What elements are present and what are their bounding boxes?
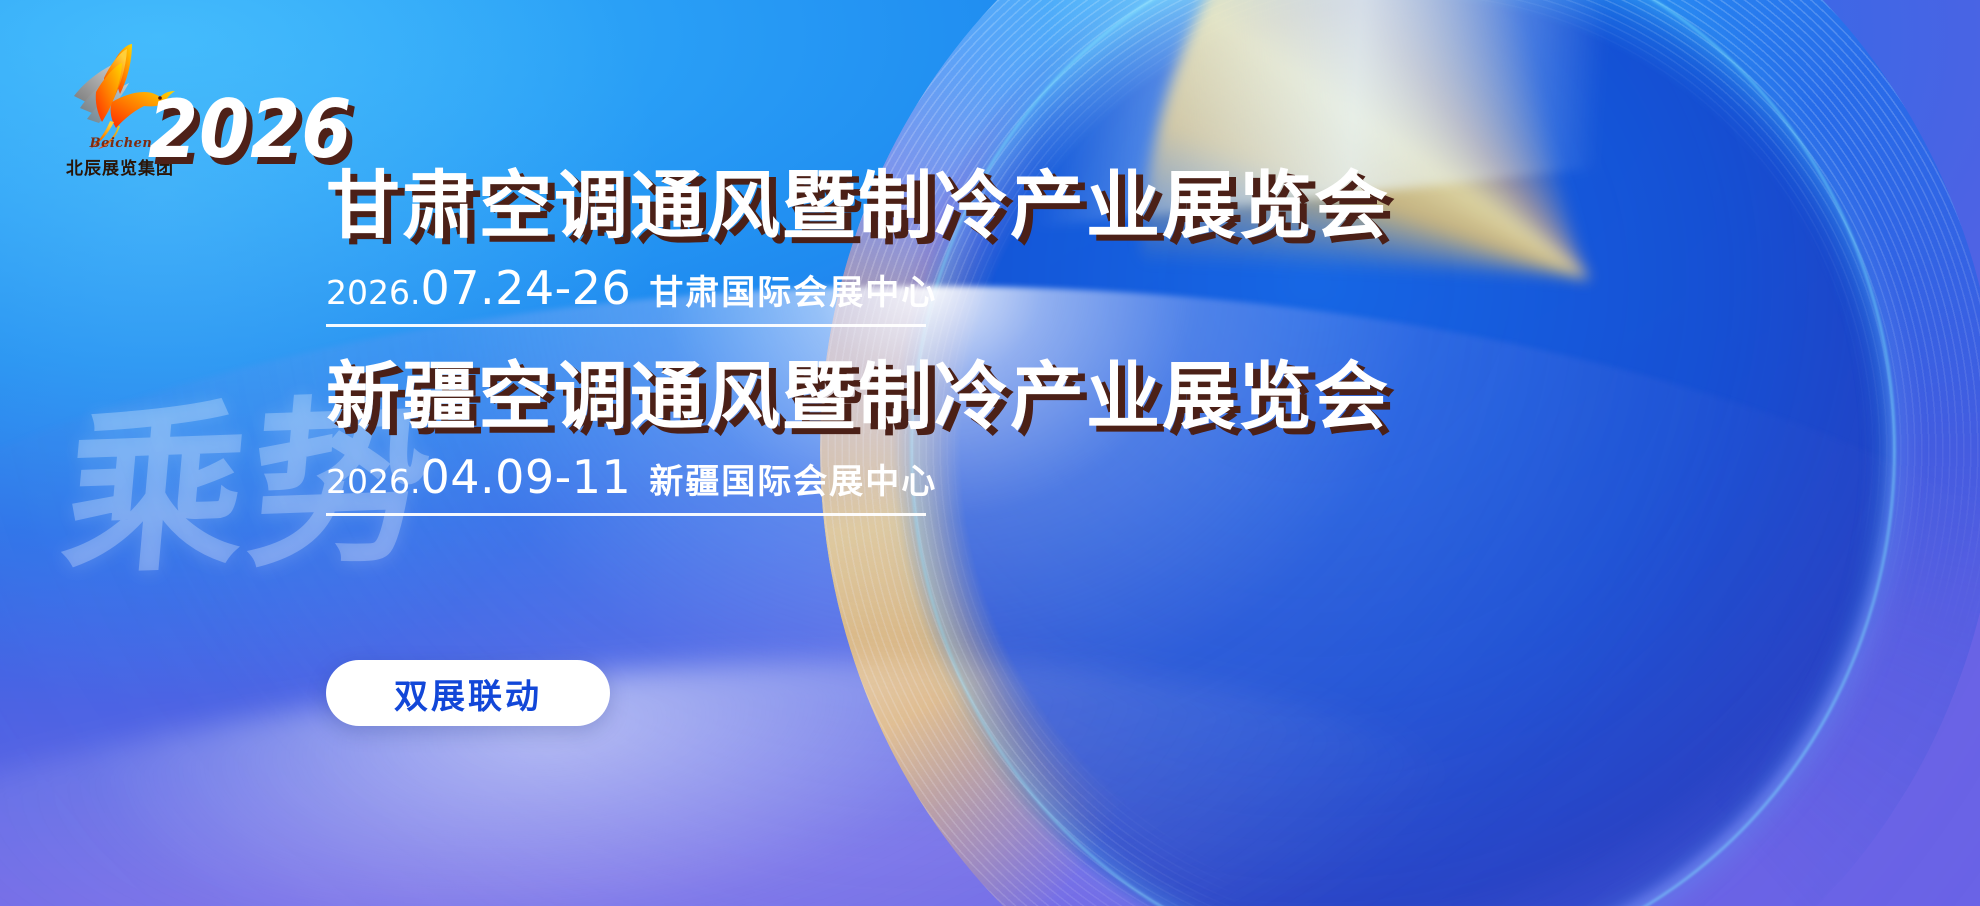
exhibition-content: 甘肃空调通风暨制冷产业展览会 2026.07.24-26 甘肃国际会展中心 新疆… <box>326 168 1626 516</box>
exhibition-banner: 乘势 <box>0 0 1980 906</box>
exhibition-date-2-year: 2026. <box>326 462 420 501</box>
exhibition-venue-2: 新疆国际会展中心 <box>649 454 937 503</box>
exhibition-date-1: 2026.07.24-26 <box>326 261 631 315</box>
exhibition-dateline-2: 2026.04.09-11 新疆国际会展中心 <box>326 450 926 516</box>
exhibition-title-2: 新疆空调通风暨制冷产业展览会 <box>326 359 1626 436</box>
bottom-light-sweep-secondary <box>0 566 1504 906</box>
exhibition-date-2-rest: 04.09-11 <box>420 450 631 504</box>
exhibition-venue-1: 甘肃国际会展中心 <box>649 265 937 314</box>
exhibition-date-2: 2026.04.09-11 <box>326 450 631 504</box>
content-spacer <box>326 327 1626 349</box>
year-label: 2026 <box>148 82 352 176</box>
exhibition-date-1-rest: 07.24-26 <box>420 261 631 315</box>
exhibition-dateline-1: 2026.07.24-26 甘肃国际会展中心 <box>326 261 926 327</box>
exhibition-date-1-year: 2026. <box>326 273 420 312</box>
exhibition-title-1: 甘肃空调通风暨制冷产业展览会 <box>326 168 1626 245</box>
dual-exhibition-badge[interactable]: 双展联动 <box>326 660 610 726</box>
